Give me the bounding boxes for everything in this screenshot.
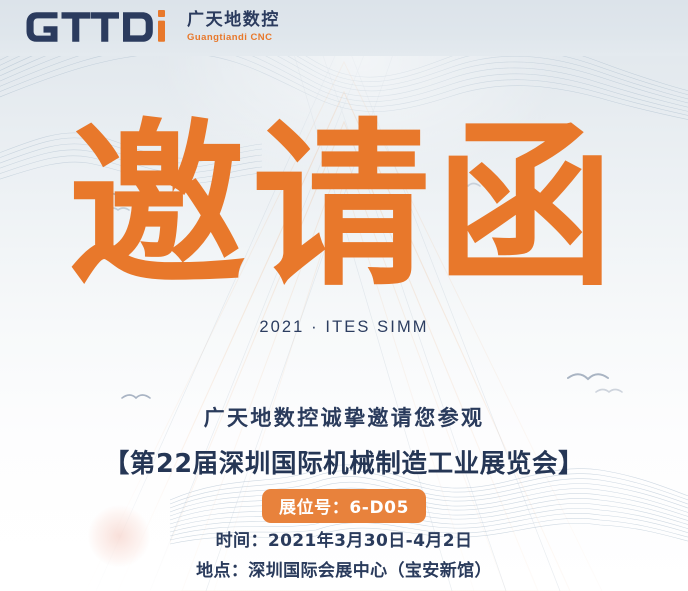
booth-number-badge: 展位号：6-D05 xyxy=(262,489,426,523)
brand-name-block: 广天地数控 Guangtiandi CNC xyxy=(187,11,280,43)
gtdi-logo-icon xyxy=(24,8,176,46)
exhibition-name: 【第22届深圳国际机械制造工业展览会】 xyxy=(0,443,688,480)
event-time: 时间：2021年3月30日-4月2日 xyxy=(0,526,688,551)
invitation-sentence: 广天地数控诚挚邀请您参观 xyxy=(0,402,688,432)
brand-logo: 广天地数控 Guangtiandi CNC xyxy=(24,8,280,46)
event-place: 地点：深圳国际会展中心（宝安新馆） xyxy=(0,556,688,581)
event-subtitle: 2021 · ITES SIMM xyxy=(0,318,688,337)
company-name-en: Guangtiandi CNC xyxy=(187,33,280,43)
invitation-title: 邀请函 xyxy=(0,108,688,306)
booth-badge-row: 展位号：6-D05 xyxy=(0,489,688,523)
invitation-poster: 广天地数控 Guangtiandi CNC 邀请函 2021 · ITES SI… xyxy=(0,0,688,591)
header-band: 广天地数控 Guangtiandi CNC xyxy=(0,0,688,56)
company-name-cn: 广天地数控 xyxy=(187,12,280,29)
hero-title-zone: 邀请函 xyxy=(0,108,688,313)
